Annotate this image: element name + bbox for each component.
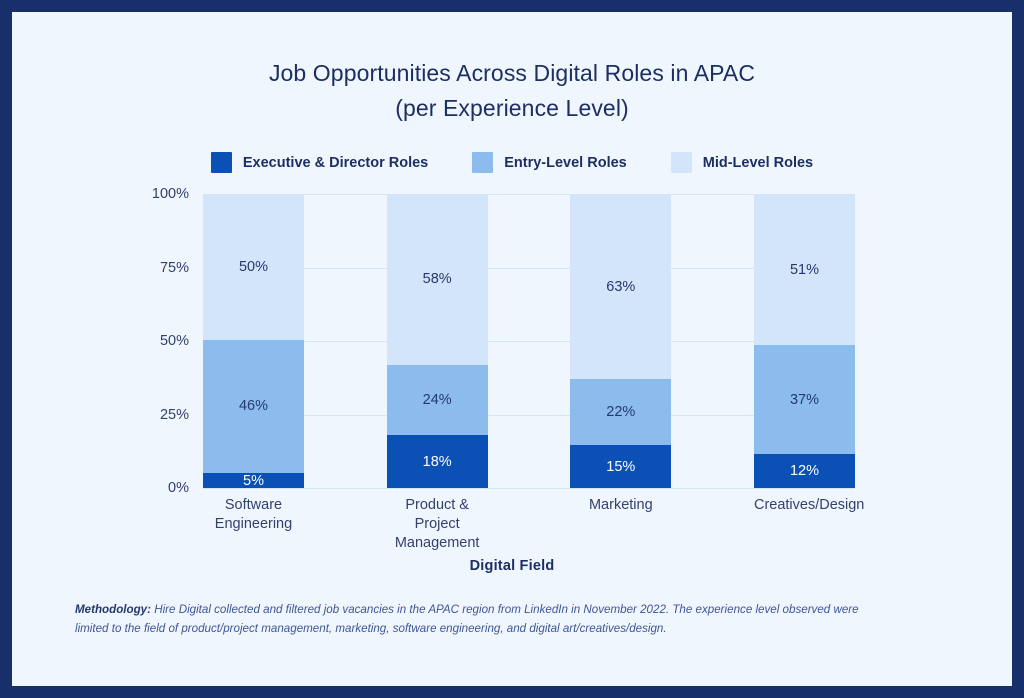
bar-software-engineering[interactable]: 50% 46% 5% — [203, 194, 304, 488]
x-axis-label-software-engineering: Software Engineering — [203, 496, 304, 553]
x-axis-label-line: Software — [203, 496, 304, 515]
x-axis-label-line: Product & Project — [387, 496, 488, 534]
x-axis-labels: Software Engineering Product & Project M… — [203, 496, 855, 553]
bar-product-project-management[interactable]: 58% 24% 18% — [387, 194, 488, 488]
methodology-footnote: Methodology: Hire Digital collected and … — [75, 600, 865, 638]
methodology-text: Hire Digital collected and filtered job … — [75, 603, 859, 635]
segment-executive[interactable]: 15% — [570, 445, 671, 488]
segment-entry-level[interactable]: 46% — [203, 340, 304, 474]
y-axis-tick-50: 50% — [160, 333, 189, 349]
stacked-bar-chart: 100% 75% 50% 25% 0% 50% 46% 5% — [12, 12, 1012, 686]
x-axis-label-product-project-management: Product & Project Management — [387, 496, 488, 553]
x-axis-label-marketing: Marketing — [570, 496, 671, 553]
methodology-label: Methodology: — [75, 603, 151, 616]
y-axis-tick-75: 75% — [160, 260, 189, 276]
segment-mid-level[interactable]: 58% — [387, 194, 488, 365]
bar-creatives-design[interactable]: 51% 37% 12% — [754, 194, 855, 488]
segment-mid-level[interactable]: 50% — [203, 194, 304, 340]
segment-executive[interactable]: 18% — [387, 435, 488, 488]
x-axis-label-line: Marketing — [570, 496, 671, 515]
y-axis-tick-100: 100% — [152, 186, 189, 202]
segment-entry-level[interactable]: 24% — [387, 365, 488, 436]
bar-marketing[interactable]: 63% 22% 15% — [570, 194, 671, 488]
chart-card: Job Opportunities Across Digital Roles i… — [12, 12, 1012, 686]
x-axis-title: Digital Field — [12, 558, 1012, 574]
x-axis-label-creatives-design: Creatives/Design — [754, 496, 855, 553]
plot-area: 100% 75% 50% 25% 0% 50% 46% 5% — [203, 194, 855, 488]
segment-executive[interactable]: 12% — [754, 454, 855, 488]
segment-entry-level[interactable]: 22% — [570, 379, 671, 445]
bar-group-container: 50% 46% 5% 58% 24% 18% 63% 22% 15% 51% 3… — [203, 194, 855, 488]
segment-mid-level[interactable]: 63% — [570, 194, 671, 379]
x-axis-label-line: Management — [387, 534, 488, 553]
gridline-0: 0% — [203, 488, 855, 489]
segment-entry-level[interactable]: 37% — [754, 345, 855, 454]
y-axis-tick-0: 0% — [168, 480, 189, 496]
y-axis-tick-25: 25% — [160, 407, 189, 423]
x-axis-label-line: Creatives/Design — [754, 496, 855, 515]
x-axis-label-line: Engineering — [203, 515, 304, 534]
segment-executive[interactable]: 5% — [203, 473, 304, 488]
segment-mid-level[interactable]: 51% — [754, 194, 855, 345]
